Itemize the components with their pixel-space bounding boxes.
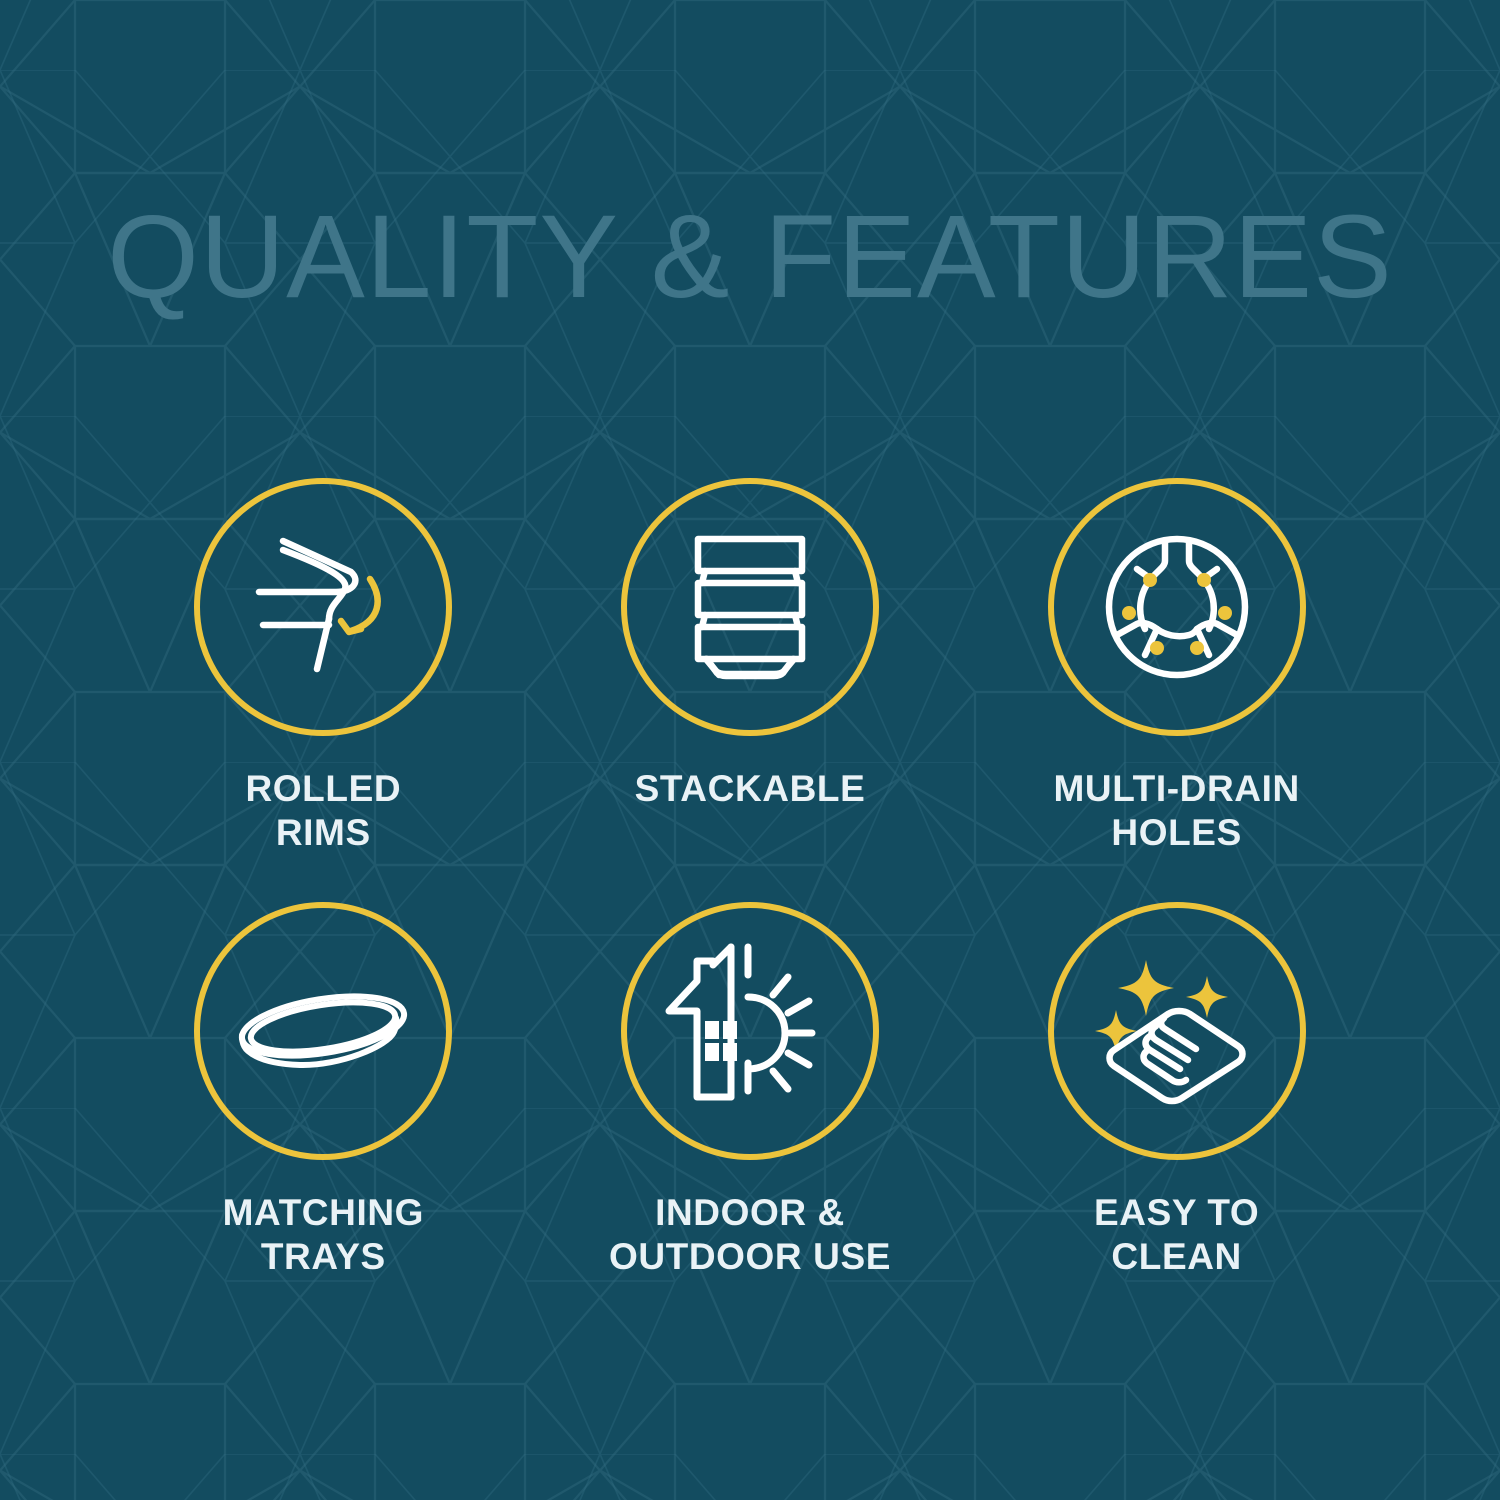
- icon-circle-indoor-outdoor-use: [621, 902, 879, 1160]
- icon-circle-matching-trays: [194, 902, 452, 1160]
- page-title: QUALITY & FEATURES: [107, 196, 1393, 320]
- feature-label-matching-trays: MATCHING TRAYS: [223, 1191, 424, 1278]
- feature-item-rolled-rims: ROLLED RIMS: [110, 478, 537, 902]
- feature-item-stackable: STACKABLE: [537, 478, 964, 902]
- feature-label-easy-to-clean: EASY TO CLEAN: [1094, 1191, 1259, 1278]
- drain-holes-icon: [1087, 517, 1267, 697]
- page-title-row: QUALITY & FEATURES: [0, 196, 1500, 320]
- quality-features-infographic: QUALITY & FEATURES ROL: [0, 0, 1500, 1500]
- feature-item-easy-to-clean: EASY TO CLEAN: [963, 902, 1390, 1326]
- icon-circle-rolled-rims: [194, 478, 452, 736]
- icon-circle-easy-to-clean: [1048, 902, 1306, 1160]
- feature-item-matching-trays: MATCHING TRAYS: [110, 902, 537, 1326]
- feature-label-rolled-rims: ROLLED RIMS: [245, 767, 401, 854]
- feature-label-indoor-outdoor-use: INDOOR & OUTDOOR USE: [609, 1191, 891, 1278]
- icon-circle-stackable: [621, 478, 879, 736]
- rolled-rim-icon: [233, 517, 413, 697]
- feature-item-multi-drain-holes: MULTI-DRAIN HOLES: [963, 478, 1390, 902]
- feature-label-stackable: STACKABLE: [635, 767, 866, 811]
- stacked-pots-icon: [660, 517, 840, 697]
- tray-saucer-icon: [228, 936, 418, 1126]
- house-sun-icon: [657, 939, 842, 1124]
- feature-grid: ROLLED RIMS: [110, 478, 1390, 1326]
- feature-item-indoor-outdoor-use: INDOOR & OUTDOOR USE: [537, 902, 964, 1326]
- hand-wiping-sparkle-icon: [1084, 938, 1270, 1124]
- feature-label-multi-drain-holes: MULTI-DRAIN HOLES: [1053, 767, 1299, 854]
- icon-circle-multi-drain-holes: [1048, 478, 1306, 736]
